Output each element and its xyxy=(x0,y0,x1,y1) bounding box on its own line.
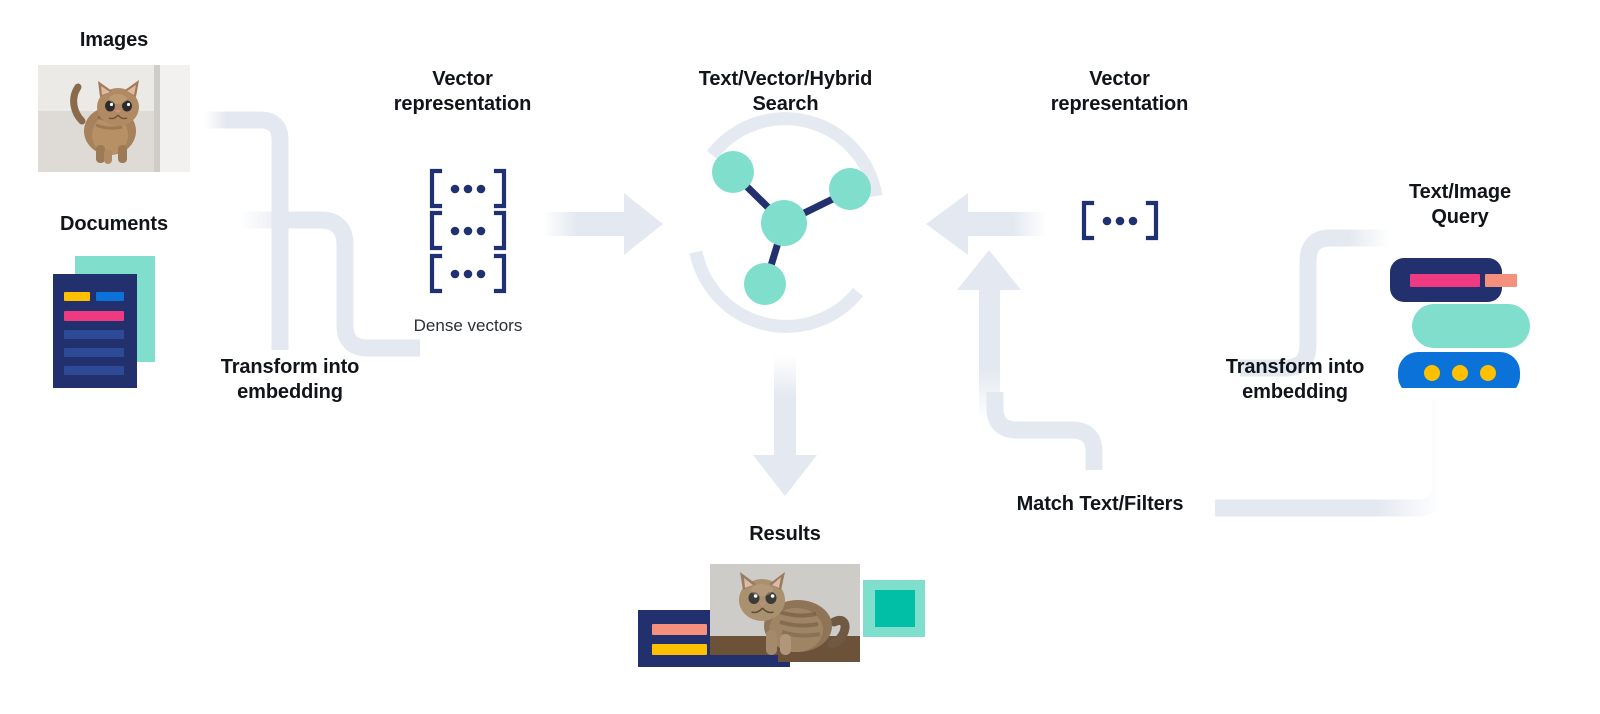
kitten-sitting-photo xyxy=(710,564,860,662)
diagram-canvas: Images Documents Transform into embeddin… xyxy=(0,0,1600,714)
query-icon xyxy=(1390,258,1540,388)
label-transform-right: Transform into embedding xyxy=(1180,355,1410,405)
label-match-text-filters: Match Text/Filters xyxy=(985,492,1215,517)
label-query: Text/Image Query xyxy=(1350,180,1570,230)
result-swatch-inner xyxy=(875,590,915,627)
vector-row-query xyxy=(1084,203,1156,238)
results-group-svg xyxy=(605,552,935,677)
results-group xyxy=(605,552,935,677)
query-icon-svg xyxy=(1390,258,1540,388)
query-row-mint xyxy=(1412,304,1530,348)
label-results: Results xyxy=(700,522,870,547)
